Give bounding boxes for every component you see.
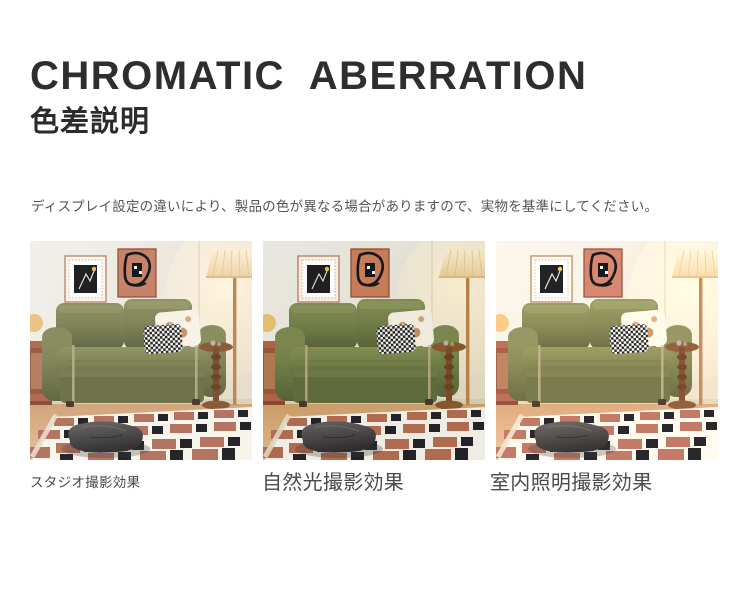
page-title-japanese: 色差説明 [30,104,587,138]
caption-studio: スタジオ撮影効果 [30,471,140,491]
picture-frame-icon [65,256,106,302]
picture-frame-icon [531,256,572,302]
caption-indoor-lighting: 室内照明撮影効果 [490,466,652,495]
photo-panel-indoor-lighting[interactable] [496,241,718,460]
picture-frame-icon [351,249,389,297]
gingham-pillow-icon [609,324,649,355]
gingham-pillow-icon [143,324,183,355]
photo-panel-row [30,241,719,460]
photo-panel-natural-light[interactable] [263,241,485,460]
gingham-pillow-icon [376,324,416,355]
photo-panel-studio[interactable] [30,241,252,460]
page-title-english: CHROMATIC ABERRATION [30,54,587,98]
chromatic-aberration-section: CHROMATIC ABERRATION 色差説明 ディスプレイ設定の違いにより… [0,0,750,600]
heading-block: CHROMATIC ABERRATION 色差説明 [30,54,587,138]
caption-row: スタジオ撮影効果 自然光撮影効果 室内照明撮影効果 [30,466,719,500]
picture-frame-icon [298,256,339,302]
living-room-scene [496,241,718,460]
picture-frame-icon [118,249,156,297]
living-room-scene [30,241,252,460]
caption-natural-light: 自然光撮影効果 [262,466,404,495]
living-room-scene [263,241,485,460]
picture-frame-icon [584,249,622,297]
disclaimer-text: ディスプレイ設定の違いにより、製品の色が異なる場合がありますので、実物を基準にし… [31,198,658,216]
